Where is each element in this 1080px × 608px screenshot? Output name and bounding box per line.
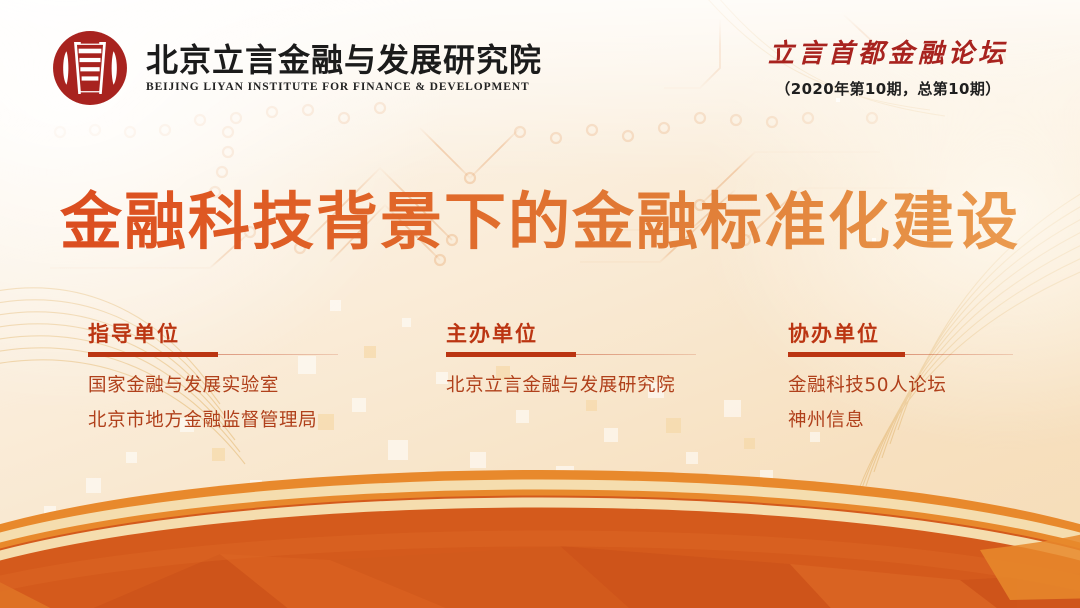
- main-title: 金融科技背景下的金融标准化建设: [0, 186, 1080, 257]
- institute-name-cn: 北京立言金融与发展研究院: [146, 43, 542, 78]
- bottom-arc-decoration: [0, 468, 1080, 608]
- organization-item: 国家金融与发展实验室: [88, 368, 338, 403]
- forum-name: 立言首都金融论坛: [748, 38, 1028, 69]
- column-divider: [88, 352, 338, 358]
- institute-name-en: BEIJING LIYAN INSTITUTE FOR FINANCE & DE…: [146, 81, 542, 93]
- organizer-columns: 指导单位 国家金融与发展实验室 北京市地方金融监督管理局 主办单位 北京立言金融…: [0, 322, 1080, 452]
- forum-title-block: 立言首都金融论坛 （2020年第10期，总第10期）: [748, 38, 1028, 99]
- column-title: 指导单位: [88, 322, 338, 347]
- liyan-seal-icon: [48, 26, 132, 110]
- organizer-column-guidance: 指导单位 国家金融与发展实验室 北京市地方金融监督管理局: [88, 322, 338, 438]
- forum-issue-number: （2020年第10期，总第10期）: [748, 78, 1028, 99]
- column-title: 主办单位: [446, 322, 696, 347]
- column-divider: [788, 352, 1013, 358]
- organizer-column-host: 主办单位 北京立言金融与发展研究院: [446, 322, 696, 403]
- organization-item: 金融科技50人论坛: [788, 368, 1013, 403]
- organizer-column-coorganizer: 协办单位 金融科技50人论坛 神州信息: [788, 322, 1013, 438]
- organization-item: 北京市地方金融监督管理局: [88, 403, 338, 438]
- organization-item: 北京立言金融与发展研究院: [446, 368, 696, 403]
- column-divider: [446, 352, 696, 358]
- column-title: 协办单位: [788, 322, 1013, 347]
- poster-canvas: 北京立言金融与发展研究院 BEIJING LIYAN INSTITUTE FOR…: [0, 0, 1080, 608]
- organization-item: 神州信息: [788, 403, 1013, 438]
- institute-logo-block: 北京立言金融与发展研究院 BEIJING LIYAN INSTITUTE FOR…: [48, 26, 542, 110]
